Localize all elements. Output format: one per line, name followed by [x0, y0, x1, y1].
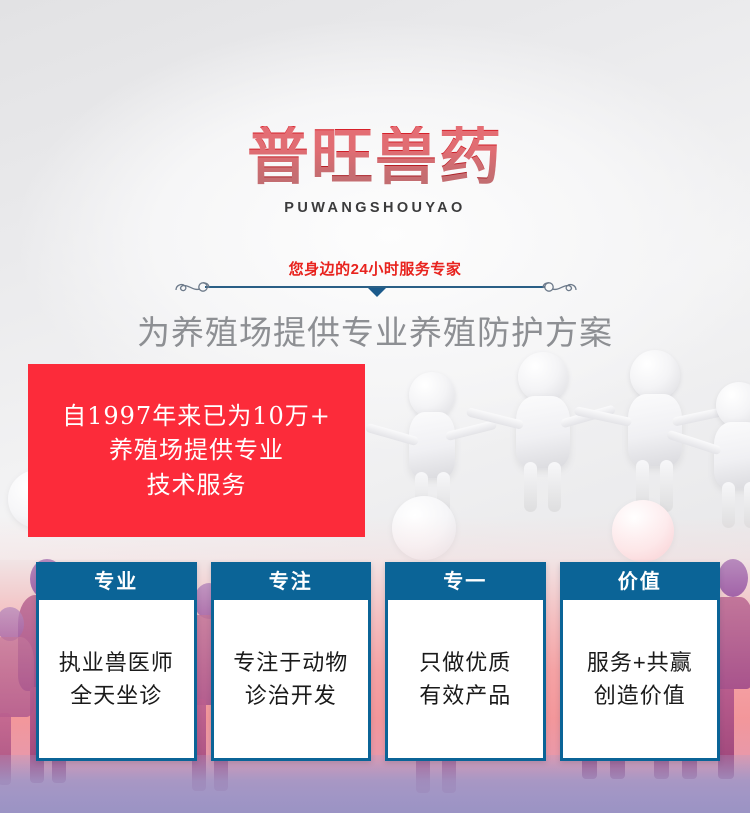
brand-pinyin: PUWANGSHOUYAO: [0, 200, 750, 216]
tagline-divider-row: 您身边的24小时服务专家: [0, 258, 750, 300]
feature-card-line-1: 只做优质: [419, 649, 511, 677]
feature-card-line-1: 执业兽医师: [59, 649, 174, 677]
red-callout-line-3: 技术服务: [147, 468, 247, 502]
brand-title-block: 普旺兽药 PUWANGSHOUYAO: [0, 126, 750, 216]
feature-card-3[interactable]: 专一 只做优质 有效产品: [385, 562, 546, 761]
feature-card-body: 专注于动物 诊治开发: [214, 600, 369, 758]
feature-card-body: 只做优质 有效产品: [388, 600, 543, 758]
feature-card-line-2: 创造价值: [594, 682, 686, 710]
feature-card-body: 服务+共赢 创造价值: [563, 600, 718, 758]
decor-figure-3: [600, 350, 710, 518]
decor-figure-4: [700, 382, 750, 532]
decor-figure-2: [490, 352, 600, 517]
red-callout-line-2: 养殖场提供专业: [109, 433, 284, 467]
feature-card-line-2: 诊治开发: [245, 682, 337, 710]
page-title: 普旺兽药: [247, 126, 503, 188]
red-callout-line-1: 自1997年来已为10万+: [62, 399, 331, 433]
feature-card-line-2: 全天坐诊: [70, 682, 162, 710]
feature-card-line-1: 专注于动物: [233, 649, 348, 677]
swirl-flourish-icon-left: [172, 276, 216, 298]
feature-card-1[interactable]: 专业 执业兽医师 全天坐诊: [36, 562, 197, 761]
feature-card-heading: 专注: [214, 565, 369, 600]
feature-card-list: 专业 执业兽医师 全天坐诊 专注 专注于动物 诊治开发 专一 只做优质 有效产品…: [36, 562, 720, 761]
feature-card-4[interactable]: 价值 服务+共赢 创造价值: [560, 562, 721, 761]
feature-card-line-2: 有效产品: [419, 682, 511, 710]
feature-card-heading: 专业: [39, 565, 194, 600]
page-subtitle: 为养殖场提供专业养殖防护方案: [0, 306, 750, 354]
caret-down-icon: [368, 288, 386, 297]
feature-card-body: 执业兽医师 全天坐诊: [39, 600, 194, 758]
feature-card-heading: 专一: [388, 565, 543, 600]
swirl-flourish-icon-right: [536, 276, 580, 298]
feature-card-line-1: 服务+共赢: [587, 649, 693, 677]
feature-card-2[interactable]: 专注 专注于动物 诊治开发: [211, 562, 372, 761]
feature-card-heading: 价值: [563, 565, 718, 600]
ground-shadow: [0, 755, 750, 813]
promo-banner: 普旺兽药 PUWANGSHOUYAO 您身边的24小时服务专家 为养殖场提供专业…: [0, 0, 750, 813]
red-callout-box: 自1997年来已为10万+ 养殖场提供专业 技术服务: [28, 364, 365, 537]
tagline-text: 您身边的24小时服务专家: [0, 258, 750, 279]
